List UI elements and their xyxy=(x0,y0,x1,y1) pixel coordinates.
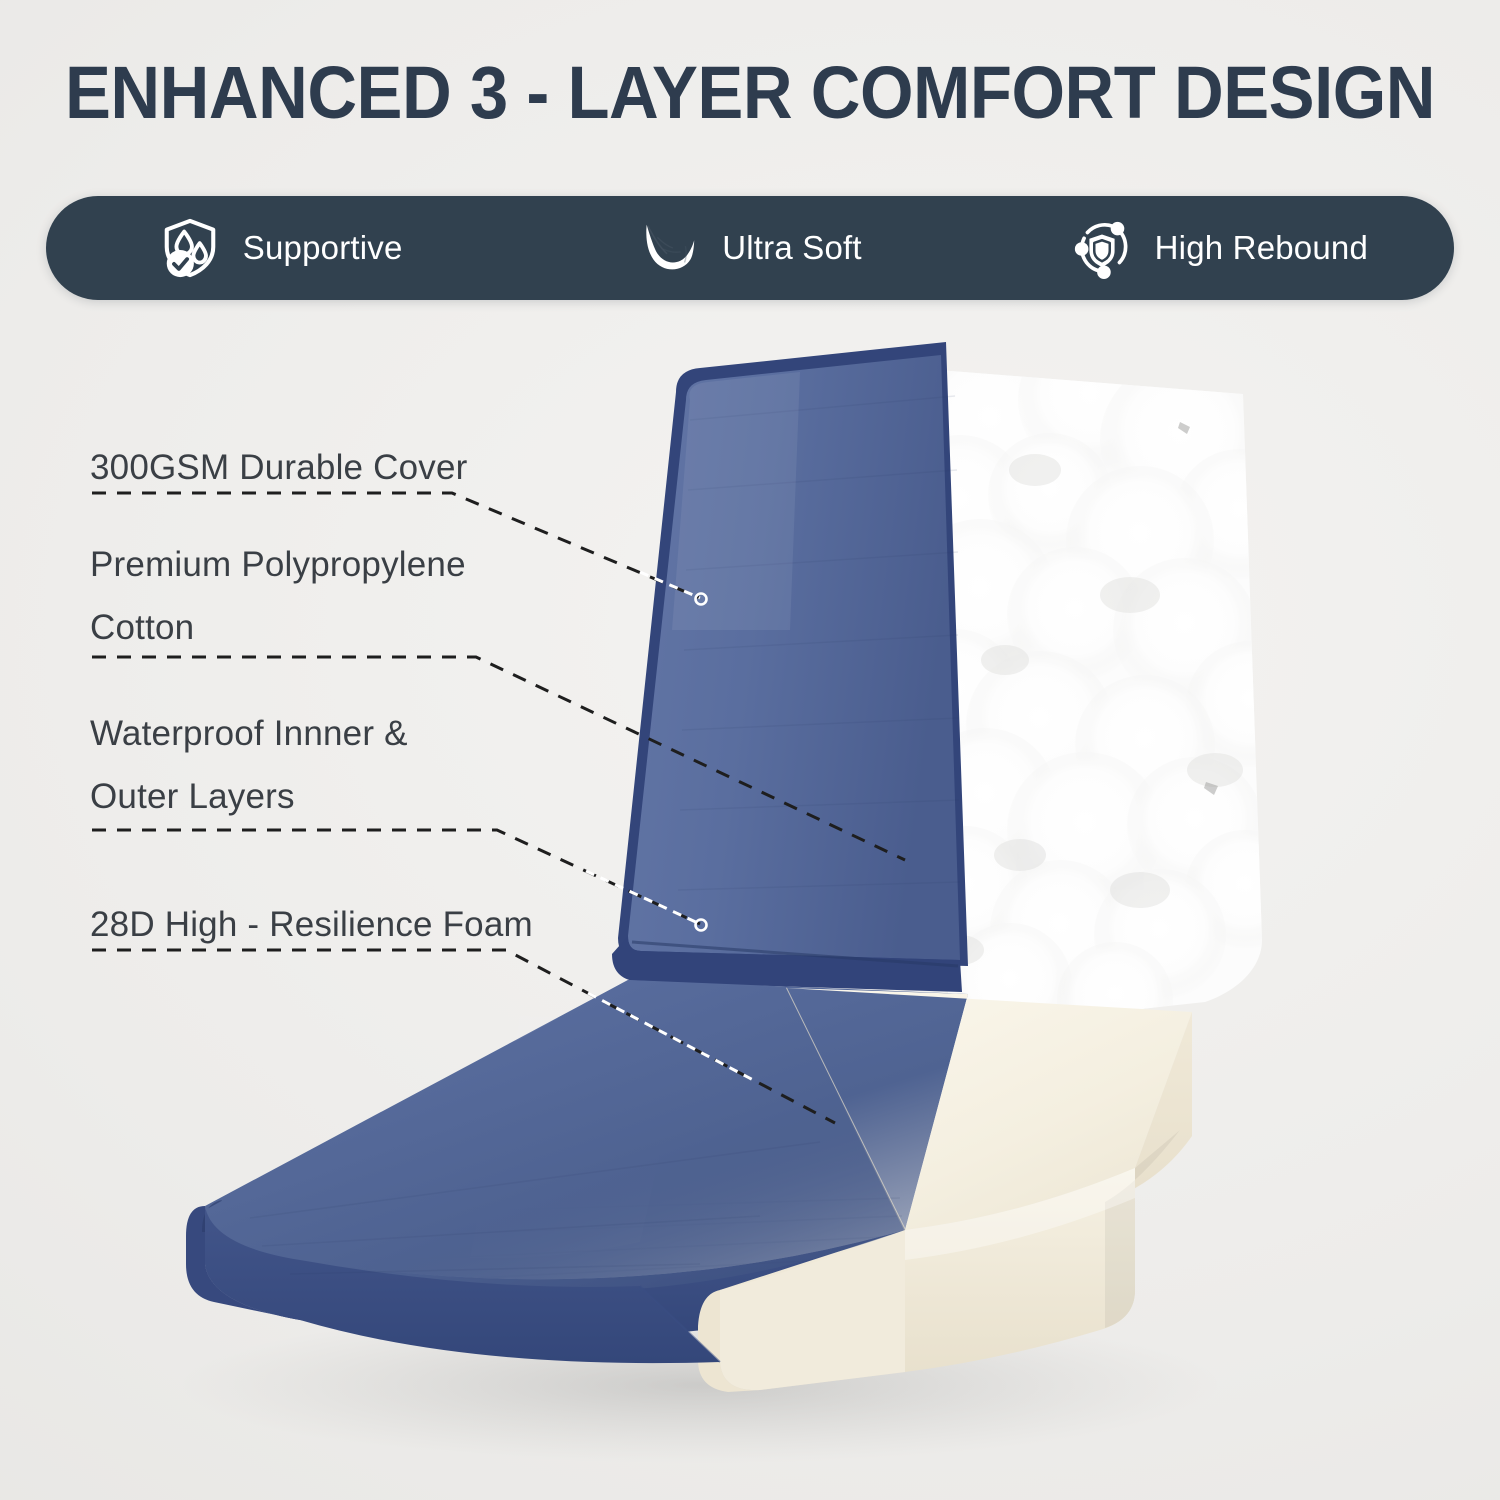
annotation-line-1: Premium Polypropylene xyxy=(90,545,466,584)
annotation-label-waterproof: Waterproof Innner & Outer Layers xyxy=(90,702,408,828)
page-title: ENHANCED 3 - LAYER COMFORT DESIGN xyxy=(53,56,1448,130)
shield-droplet-check-icon xyxy=(159,217,221,279)
annotation-label-cotton: Premium Polypropylene Cotton xyxy=(90,533,466,659)
annotation-label-foam: 28D High - Resilience Foam xyxy=(90,893,533,956)
backrest-cover xyxy=(612,342,968,992)
feather-icon xyxy=(638,217,700,279)
feature-bar: Supportive Ultra Soft xyxy=(46,196,1454,300)
feature-item-supportive: Supportive xyxy=(46,196,515,300)
feature-label: Supportive xyxy=(243,229,403,267)
annotation-label-cover: 300GSM Durable Cover xyxy=(90,436,468,499)
feature-item-high-rebound: High Rebound xyxy=(985,196,1454,300)
infographic-canvas: ENHANCED 3 - LAYER COMFORT DESIGN Suppor… xyxy=(0,0,1500,1500)
feature-item-ultra-soft: Ultra Soft xyxy=(515,196,984,300)
annotation-line-2: Cotton xyxy=(90,596,466,659)
annotation-line-1: 300GSM Durable Cover xyxy=(90,448,468,487)
feature-label: High Rebound xyxy=(1155,229,1368,267)
feature-label: Ultra Soft xyxy=(722,229,862,267)
annotation-line-1: 28D High - Resilience Foam xyxy=(90,905,533,944)
annotation-line-2: Outer Layers xyxy=(90,765,408,828)
orbit-shield-icon xyxy=(1071,217,1133,279)
annotation-line-1: Waterproof Innner & xyxy=(90,714,408,753)
